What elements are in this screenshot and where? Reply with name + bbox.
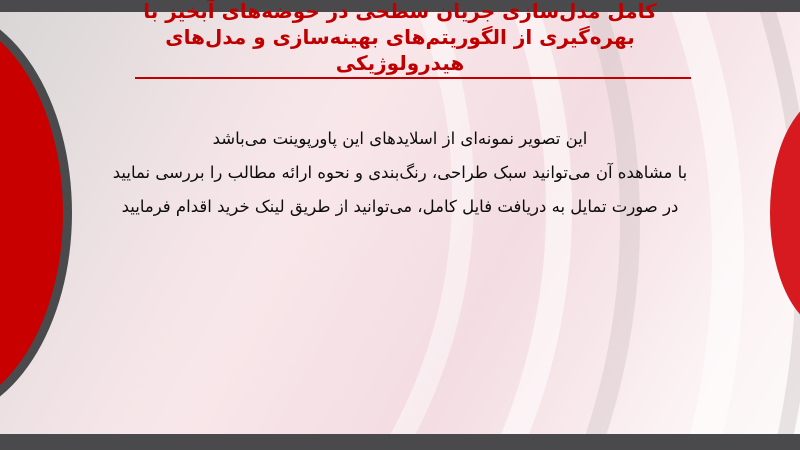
slide-body-line-3: در صورت تمایل به دریافت فایل کامل، می‌تو… [40,190,760,224]
slide-title-line-1: کامل مدل‌سازی جریان سطحی در حوضه‌های آبخ… [0,0,800,24]
slide-title: کامل مدل‌سازی جریان سطحی در حوضه‌های آبخ… [0,0,800,76]
slide-title-line-2: بهره‌گیری از الگوریتم‌های بهینه‌سازی و م… [0,24,800,50]
slide-canvas: کامل مدل‌سازی جریان سطحی در حوضه‌های آبخ… [0,0,800,450]
slide-title-line-3: هیدرولوژیکی [0,50,800,76]
slide-body-line-2: با مشاهده آن می‌توانید سبک طراحی، رنگ‌بن… [40,156,760,190]
slide-content: کامل مدل‌سازی جریان سطحی در حوضه‌های آبخ… [0,0,800,450]
title-divider-rule [135,77,691,79]
slide-body-line-1: این تصویر نمونه‌ای از اسلایدهای این پاور… [40,122,760,156]
slide-body-text: این تصویر نمونه‌ای از اسلایدهای این پاور… [0,122,800,224]
